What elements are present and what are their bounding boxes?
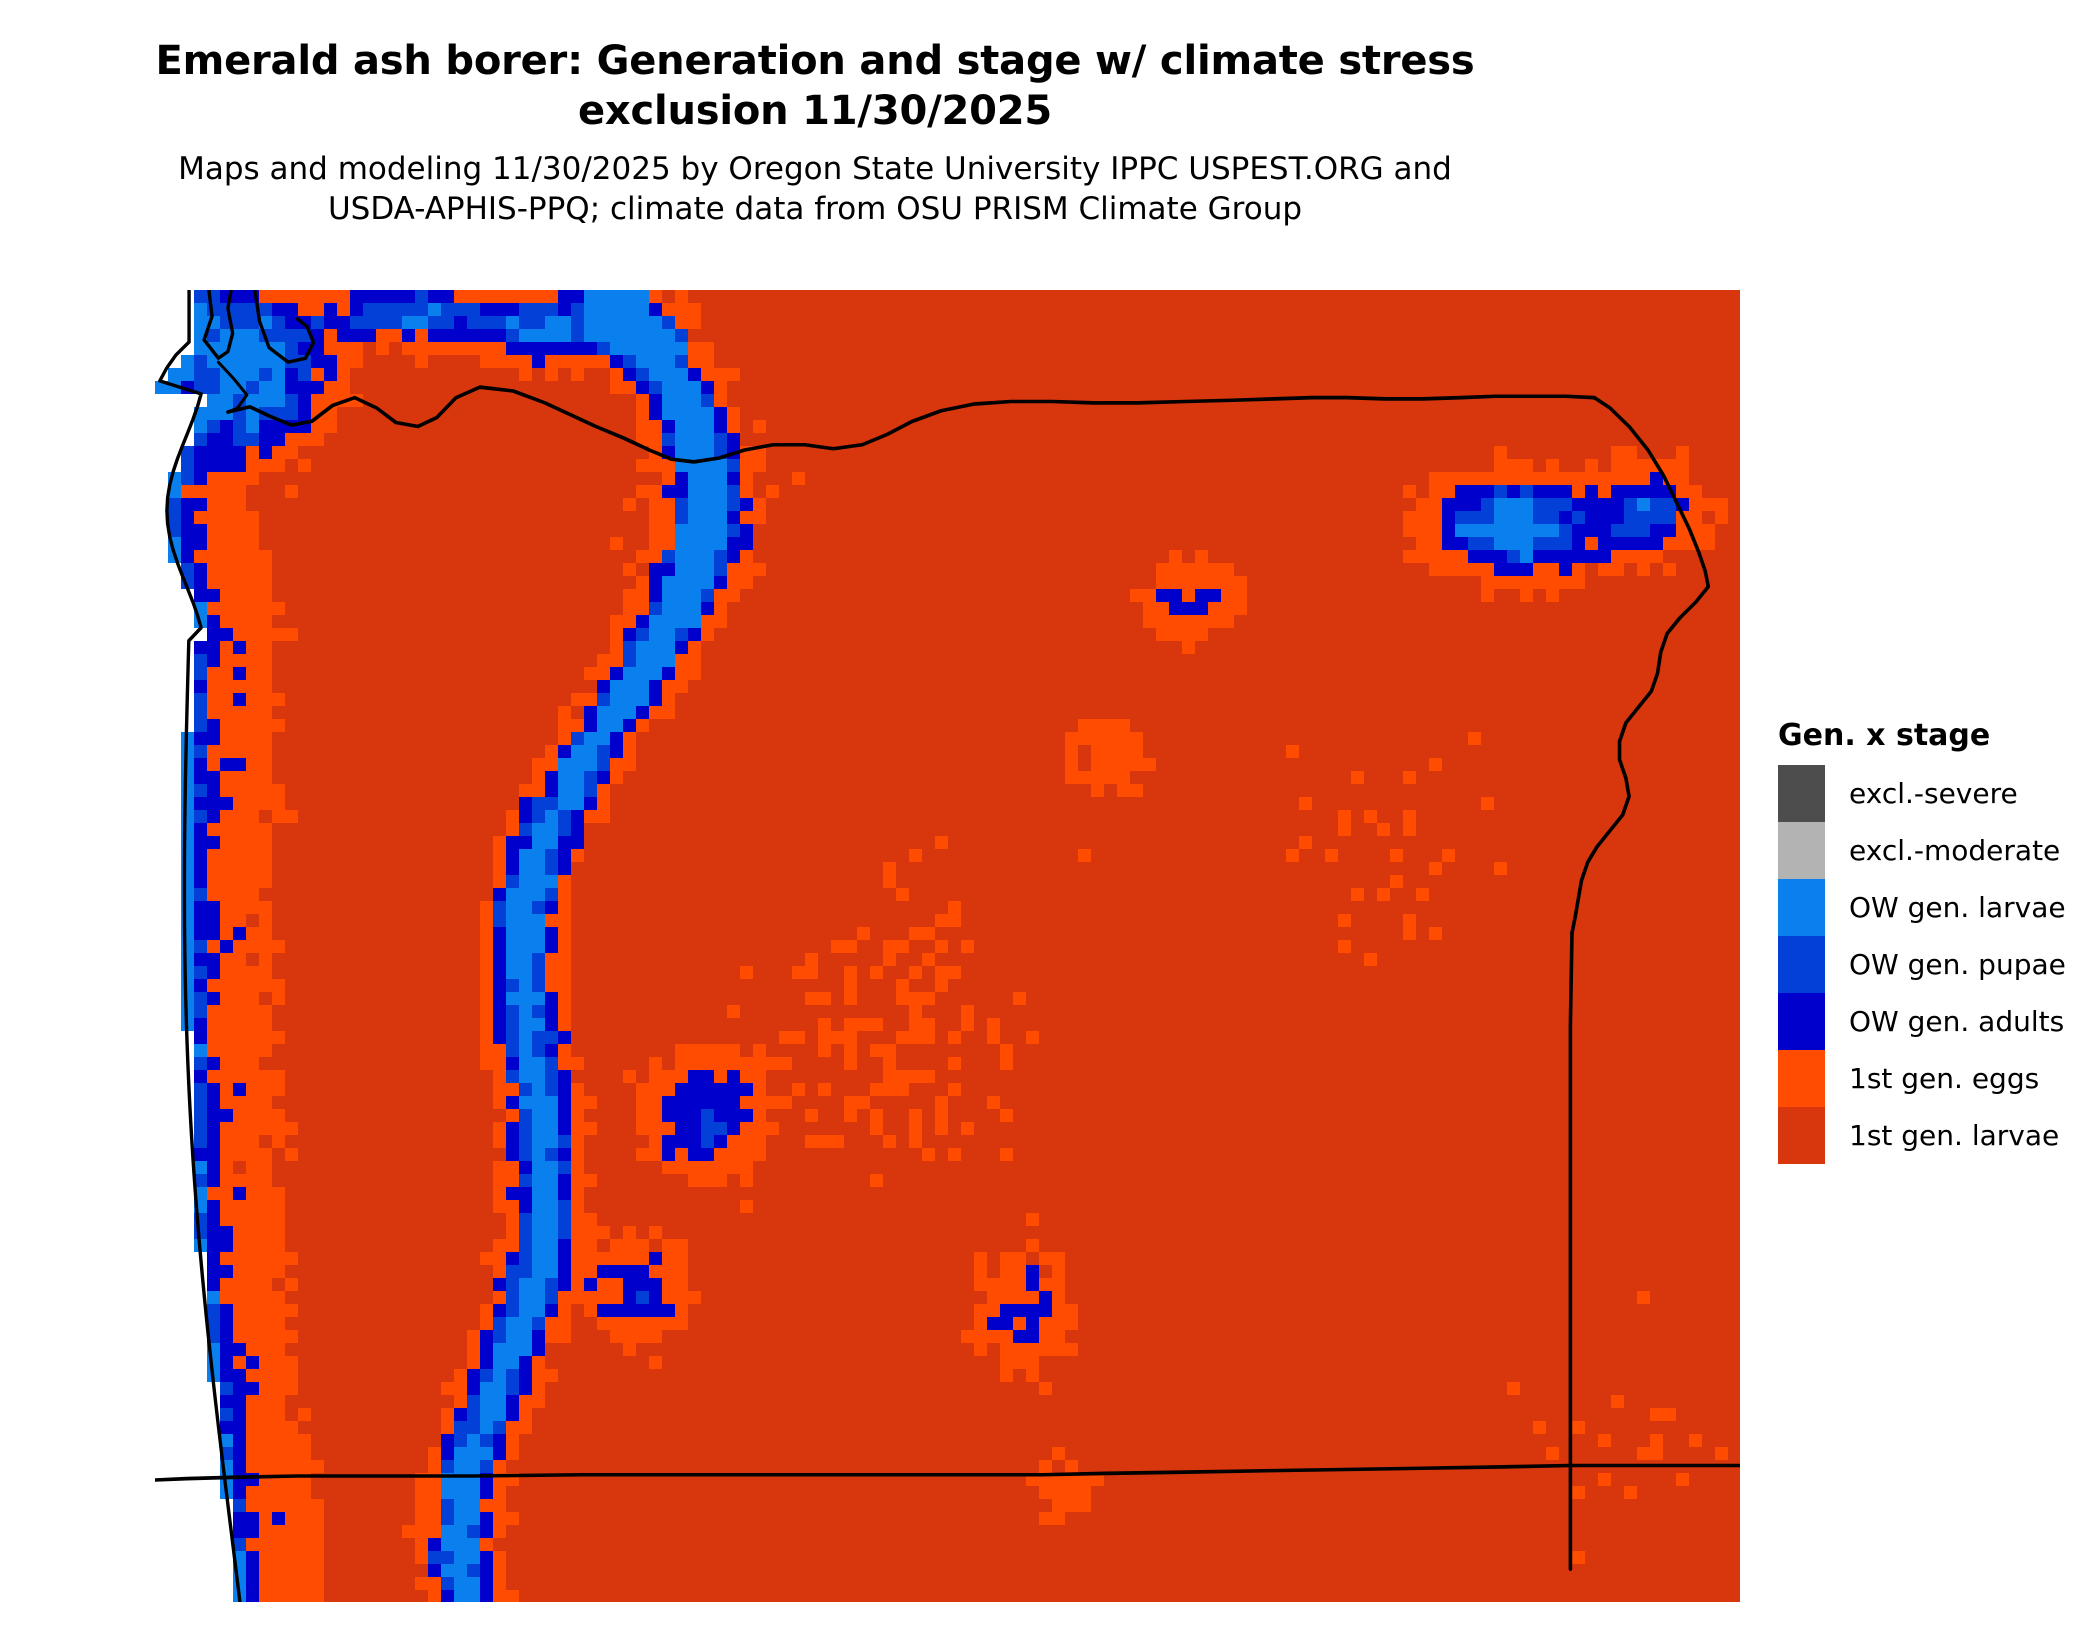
legend-item-label: excl.-severe [1825, 777, 2018, 810]
figure-root: Emerald ash borer: Generation and stage … [0, 0, 2100, 1645]
legend-item[interactable]: excl.-moderate [1778, 822, 2078, 879]
legend: Gen. x stage excl.-severe excl.-moderate… [1778, 718, 2078, 1164]
legend-item[interactable]: OW gen. larvae [1778, 879, 2078, 936]
legend-item-label: 1st gen. larvae [1825, 1119, 2059, 1152]
figure-subtitle-line-2: USDA-APHIS-PPQ; climate data from OSU PR… [328, 191, 1302, 227]
legend-item[interactable]: OW gen. adults [1778, 993, 2078, 1050]
legend-rows: excl.-severe excl.-moderate OW gen. larv… [1778, 765, 2078, 1164]
legend-swatch-icon [1778, 765, 1825, 822]
legend-swatch-icon [1778, 993, 1825, 1050]
legend-item-label: OW gen. pupae [1825, 948, 2066, 981]
map-panel [155, 290, 1740, 1602]
legend-swatch-icon [1778, 936, 1825, 993]
figure-title-line-2: exclusion 11/30/2025 [578, 88, 1052, 134]
legend-item-label: OW gen. larvae [1825, 891, 2066, 924]
figure-title-line-1: Emerald ash borer: Generation and stage … [155, 38, 1474, 84]
legend-title: Gen. x stage [1778, 718, 2078, 753]
legend-item[interactable]: 1st gen. larvae [1778, 1107, 2078, 1164]
legend-item-label: OW gen. adults [1825, 1005, 2064, 1038]
legend-item[interactable]: excl.-severe [1778, 765, 2078, 822]
legend-swatch-icon [1778, 879, 1825, 936]
figure-subtitle-line-1: Maps and modeling 11/30/2025 by Oregon S… [178, 151, 1452, 187]
legend-item-label: 1st gen. eggs [1825, 1062, 2039, 1095]
legend-swatch-icon [1778, 822, 1825, 879]
legend-item[interactable]: 1st gen. eggs [1778, 1050, 2078, 1107]
figure-subtitle: Maps and modeling 11/30/2025 by Oregon S… [110, 150, 1520, 229]
title-block: Emerald ash borer: Generation and stage … [110, 36, 1520, 229]
legend-item-label: excl.-moderate [1825, 834, 2060, 867]
legend-item[interactable]: OW gen. pupae [1778, 936, 2078, 993]
map-raster-canvas [155, 290, 1740, 1602]
figure-title: Emerald ash borer: Generation and stage … [110, 36, 1520, 136]
legend-swatch-icon [1778, 1107, 1825, 1164]
legend-swatch-icon [1778, 1050, 1825, 1107]
